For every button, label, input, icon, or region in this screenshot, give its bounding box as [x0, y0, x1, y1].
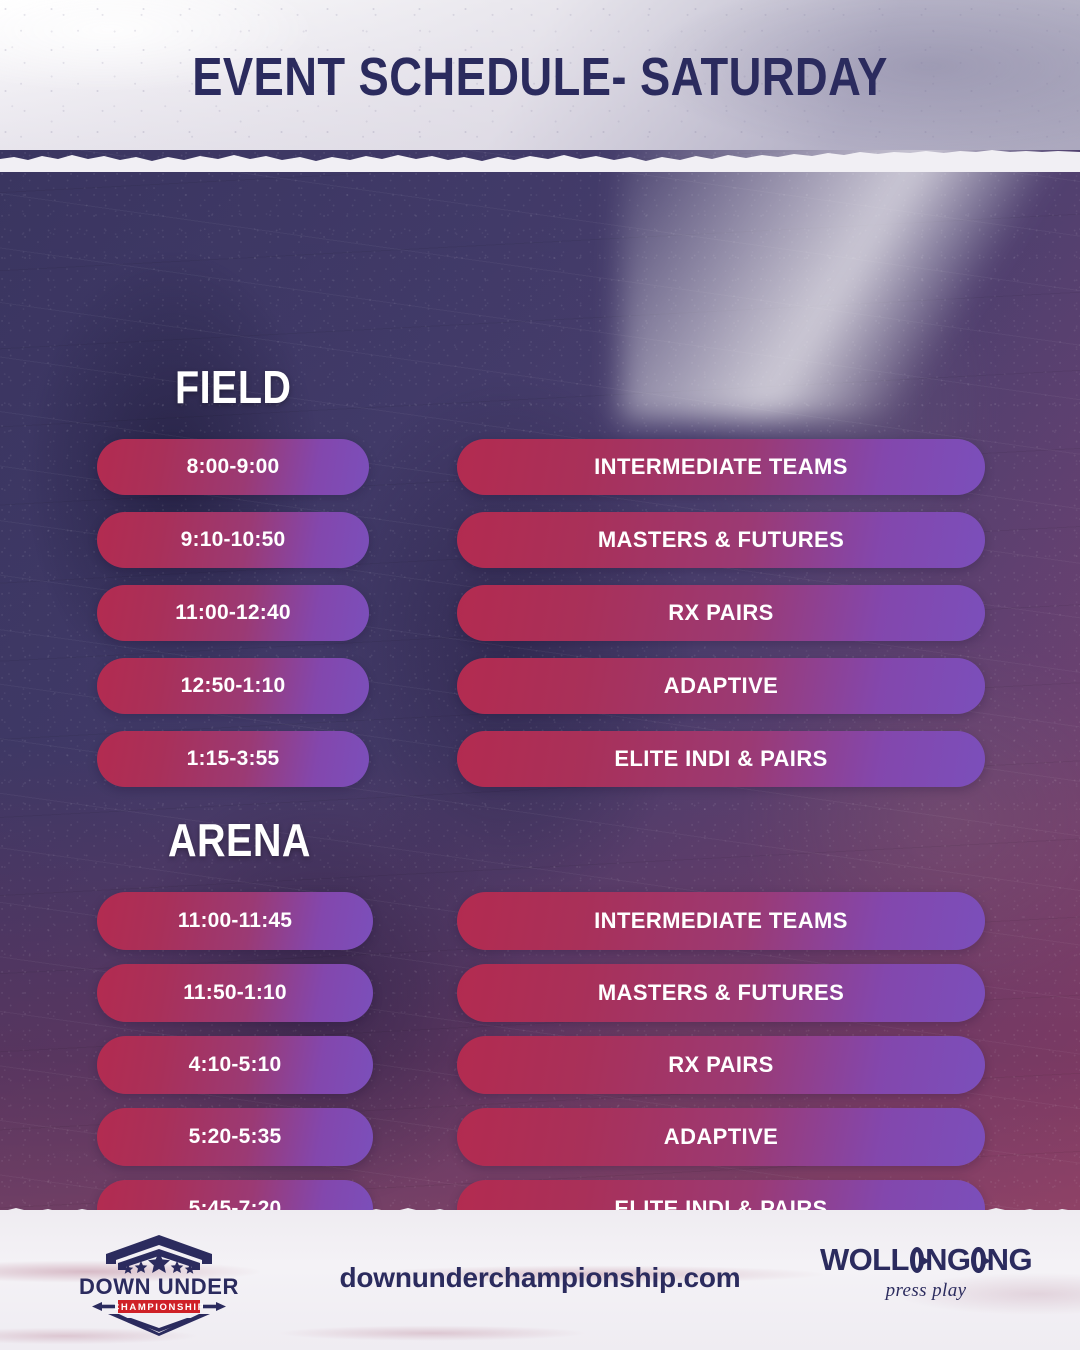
schedule-row: 12:50-1:10 ADAPTIVE: [0, 658, 1080, 714]
event-schedule-poster: EVENT SCHEDULE- SATURDAY FIELD 8:00-9:00…: [0, 0, 1080, 1350]
footer-bar: DOWN UNDER CHAMPIONSHIP downunderchampio…: [0, 1210, 1080, 1350]
wollongong-tagline: press play: [820, 1280, 1032, 1302]
wollongong-press-play-logo: WOLL NG NG press play: [820, 1242, 1032, 1318]
event-pill[interactable]: RX PAIRS: [457, 585, 985, 641]
play-circle-icon: [910, 1247, 924, 1273]
event-pill[interactable]: ADAPTIVE: [457, 1108, 985, 1166]
page-title: EVENT SCHEDULE- SATURDAY: [86, 46, 993, 108]
schedule-row: 1:15-3:55 ELITE INDI & PAIRS: [0, 731, 1080, 787]
schedule-body: FIELD 8:00-9:00 INTERMEDIATE TEAMS 9:10-…: [0, 150, 1080, 1230]
event-pill[interactable]: ADAPTIVE: [457, 658, 985, 714]
wollongong-word-part1: WOLL: [820, 1242, 909, 1278]
event-pill[interactable]: ELITE INDI & PAIRS: [457, 731, 985, 787]
time-pill[interactable]: 9:10-10:50: [97, 512, 369, 568]
play-circle-icon: [971, 1247, 985, 1273]
time-pill[interactable]: 1:15-3:55: [97, 731, 369, 787]
time-pill[interactable]: 5:20-5:35: [97, 1108, 373, 1166]
svg-text:CHAMPIONSHIP: CHAMPIONSHIP: [112, 1302, 205, 1313]
schedule-row: 9:10-10:50 MASTERS & FUTURES: [0, 512, 1080, 568]
wollongong-wordmark: WOLL NG NG: [820, 1242, 1032, 1278]
schedule-row: 4:10-5:10 RX PAIRS: [0, 1036, 1080, 1094]
event-pill[interactable]: RX PAIRS: [457, 1036, 985, 1094]
schedule-row: 11:00-11:45 INTERMEDIATE TEAMS: [0, 892, 1080, 950]
schedule-row: 8:00-9:00 INTERMEDIATE TEAMS: [0, 439, 1080, 495]
time-pill[interactable]: 8:00-9:00: [97, 439, 369, 495]
time-pill[interactable]: 11:00-12:40: [97, 585, 369, 641]
time-pill[interactable]: 12:50-1:10: [97, 658, 369, 714]
wollongong-word-part2: NG: [925, 1242, 970, 1278]
event-pill[interactable]: MASTERS & FUTURES: [457, 964, 985, 1022]
schedule-row: 11:50-1:10 MASTERS & FUTURES: [0, 964, 1080, 1022]
time-pill[interactable]: 4:10-5:10: [97, 1036, 373, 1094]
event-pill[interactable]: INTERMEDIATE TEAMS: [457, 439, 985, 495]
event-pill[interactable]: MASTERS & FUTURES: [457, 512, 985, 568]
section-heading-arena: ARENA: [168, 813, 311, 867]
section-heading-field: FIELD: [175, 360, 291, 414]
wollongong-word-part3: NG: [987, 1242, 1032, 1278]
event-pill[interactable]: INTERMEDIATE TEAMS: [457, 892, 985, 950]
time-pill[interactable]: 11:50-1:10: [97, 964, 373, 1022]
time-pill[interactable]: 11:00-11:45: [97, 892, 373, 950]
schedule-row: 5:20-5:35 ADAPTIVE: [0, 1108, 1080, 1166]
schedule-row: 11:00-12:40 RX PAIRS: [0, 585, 1080, 641]
schedule-content: FIELD 8:00-9:00 INTERMEDIATE TEAMS 9:10-…: [0, 150, 1080, 1230]
